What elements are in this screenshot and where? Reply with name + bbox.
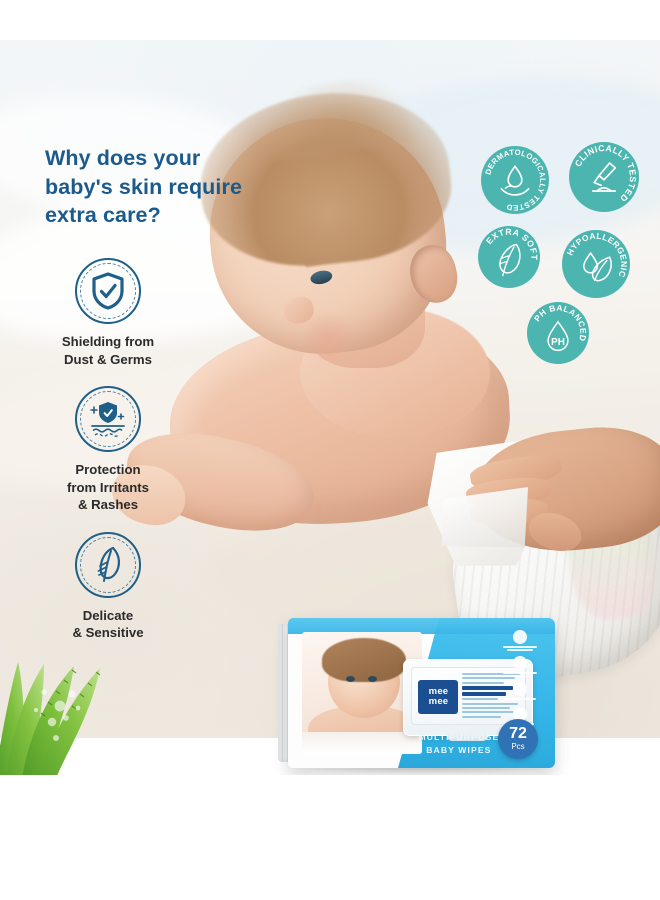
feature-item-shielding: Shielding from Dust & Germs	[28, 258, 188, 368]
badge-ph-balanced: PH BALANCED PH	[527, 302, 589, 364]
svg-text:HYPOALLERGENIC: HYPOALLERGENIC	[565, 231, 630, 279]
pack-baby-eye	[346, 676, 355, 682]
feature-label: Shielding from Dust & Germs	[62, 333, 154, 368]
feature-list: Shielding from Dust & Germs	[28, 258, 188, 660]
headline-line-2: baby's skin require	[45, 173, 295, 202]
badge-artwork: CLINICALLY TESTED	[569, 142, 639, 212]
baby-ear	[405, 241, 463, 308]
headline-line-3: extra care?	[45, 201, 295, 230]
badge-clinically-tested: CLINICALLY TESTED	[569, 142, 639, 212]
pack-front: mee mee	[288, 618, 555, 768]
aloe-vera-leaves	[0, 650, 152, 778]
feature-label-line: Dust & Germs	[62, 351, 154, 369]
badge-artwork: DERMATOLOGICALLY TESTED	[481, 146, 549, 214]
svg-text:CLINICALLY TESTED: CLINICALLY TESTED	[573, 143, 638, 204]
badge-extra-soft: EXTRA SOFT	[478, 226, 540, 288]
svg-text:DERMATOLOGICALLY TESTED: DERMATOLOGICALLY TESTED	[483, 148, 547, 213]
shield-check-icon	[75, 258, 141, 324]
product-pack: mee mee	[288, 618, 555, 768]
brand-logo: mee mee	[418, 680, 458, 714]
svg-text:EXTRA SOFT: EXTRA SOFT	[484, 227, 539, 261]
badge-artwork: HYPOALLERGENIC	[562, 230, 630, 298]
pack-count-number: 72	[509, 726, 527, 742]
pack-baby-bed	[302, 732, 422, 754]
feature-label-line: & Sensitive	[72, 624, 143, 642]
badge-artwork: EXTRA SOFT	[478, 226, 540, 288]
bottom-white-band	[0, 775, 660, 900]
feature-label: Protection from Irritants & Rashes	[67, 461, 149, 514]
pack-baby-eye	[368, 676, 377, 682]
pack-name-line-2: BABY WIPES	[405, 744, 512, 756]
pack-count-unit: Pcs	[511, 742, 524, 752]
feature-label-line: Delicate	[72, 607, 143, 625]
badge-artwork: PH BALANCED PH	[527, 302, 589, 364]
page-title: Why does your baby's skin require extra …	[45, 144, 295, 230]
headline-line-1: Why does your	[45, 144, 295, 173]
feather-icon	[75, 532, 141, 598]
feature-label: Delicate & Sensitive	[72, 607, 143, 642]
feature-label-line: from Irritants	[67, 479, 149, 497]
pack-name-line-1: MULTIPURPOSE	[405, 731, 512, 743]
svg-text:PH: PH	[551, 337, 565, 348]
pack-badge	[499, 630, 541, 651]
pack-product-name: MULTIPURPOSE BABY WIPES	[405, 731, 512, 756]
feature-label-line: & Rashes	[67, 496, 149, 514]
pack-baby-hair	[322, 638, 406, 682]
pack-badge	[499, 682, 541, 701]
shield-waves-icon	[75, 386, 141, 452]
pack-badge	[499, 656, 541, 677]
pack-count-badge: 72 Pcs	[498, 719, 538, 759]
feature-label-line: Protection	[67, 461, 149, 479]
product-marketing-image: Why does your baby's skin require extra …	[0, 0, 660, 900]
brand-logo-line-2: mee	[429, 697, 449, 707]
pack-feature-badges	[499, 630, 541, 730]
baby-eye	[309, 269, 333, 286]
badge-dermatologically-tested: DERMATOLOGICALLY TESTED	[481, 146, 549, 214]
top-white-band	[0, 0, 660, 40]
feature-label-line: Shielding from	[62, 333, 154, 351]
badge-hypoallergenic: HYPOALLERGENIC	[562, 230, 630, 298]
feature-item-protection: Protection from Irritants & Rashes	[28, 386, 188, 514]
feature-item-delicate: Delicate & Sensitive	[28, 532, 188, 642]
